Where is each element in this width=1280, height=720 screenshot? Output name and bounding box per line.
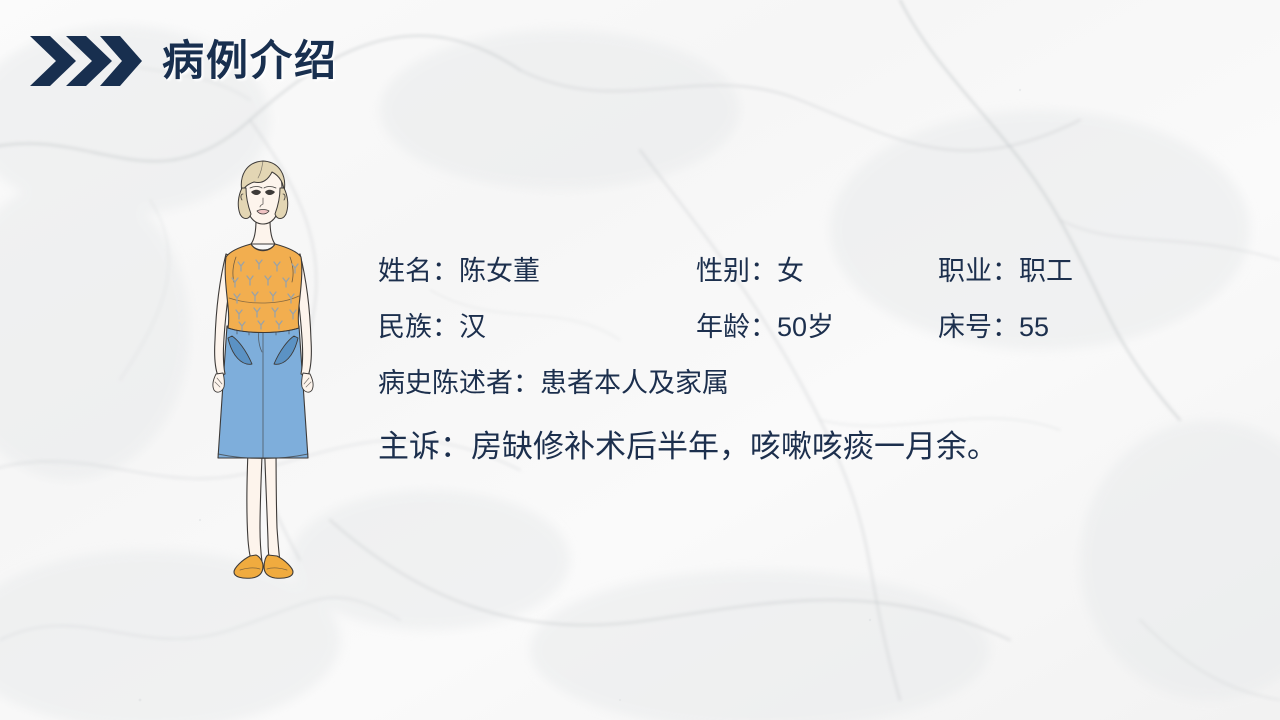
field-gender: 性别：女 bbox=[696, 252, 804, 290]
chevron-right-icon bbox=[28, 34, 144, 88]
field-chief-complaint: 主诉：房缺修补术后半年，咳嗽咳痰一月余。 bbox=[378, 426, 1138, 468]
field-history-narrator: 病史陈述者：患者本人及家属 bbox=[378, 364, 1138, 418]
field-age: 年龄：50岁 bbox=[696, 308, 834, 346]
info-row-2: 民族：汉 年龄：50岁 床号：55 bbox=[378, 308, 1138, 364]
page-title: 病例介绍 bbox=[162, 40, 338, 82]
field-bed-number: 床号：55 bbox=[938, 308, 1049, 346]
field-ethnicity: 民族：汉 bbox=[378, 308, 486, 346]
patient-info-block: 姓名：陈女董 性别：女 职业：职工 民族：汉 年龄：50岁 床号：55 病史陈述… bbox=[378, 252, 1138, 468]
slide-canvas: 病例介绍 bbox=[0, 0, 1280, 720]
info-row-1: 姓名：陈女董 性别：女 职业：职工 bbox=[378, 252, 1138, 308]
slide-header: 病例介绍 bbox=[28, 34, 338, 88]
field-occupation: 职业：职工 bbox=[938, 252, 1073, 290]
patient-illustration bbox=[196, 158, 328, 583]
field-name: 姓名：陈女董 bbox=[378, 252, 540, 290]
